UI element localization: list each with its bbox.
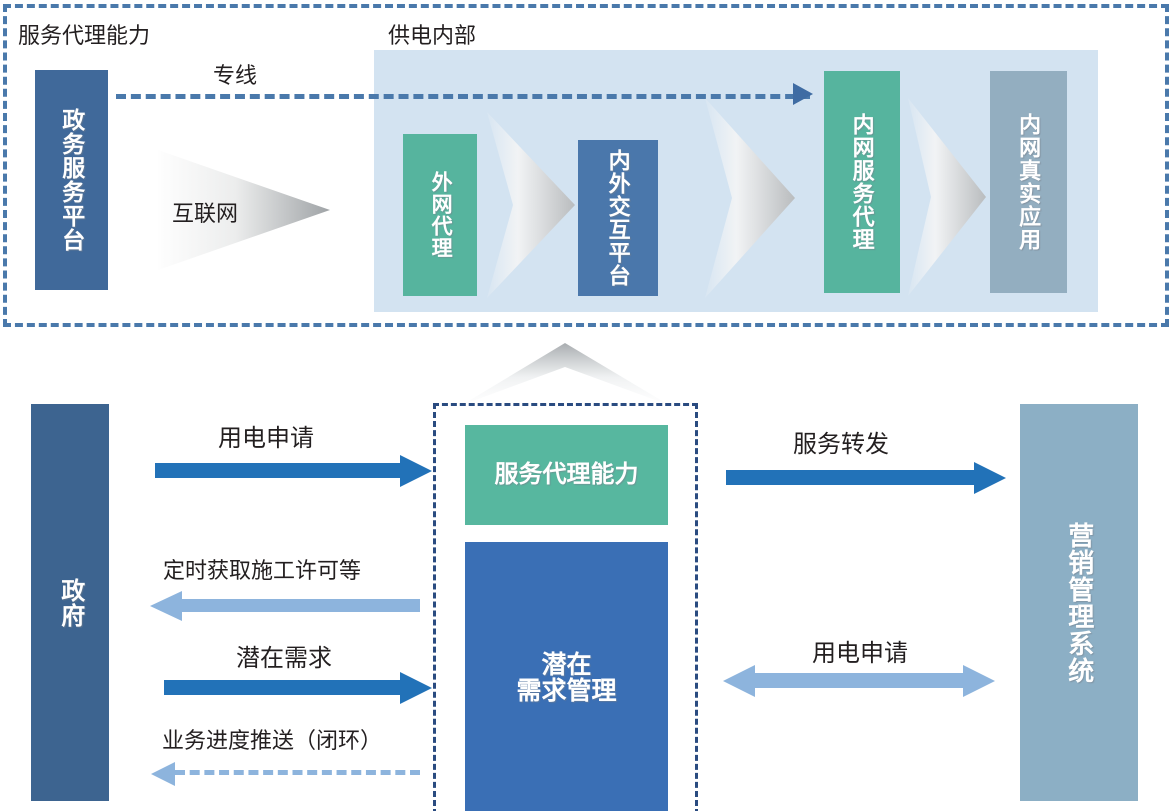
box-government-label: 政府 [57,578,82,628]
dedicated-line-arrowhead-icon [793,83,813,105]
chevron-arrow-icon-1 [487,112,575,298]
chevron-arrow-icon-3 [908,98,986,296]
flow-arrow-business-progress-head-icon [151,762,175,786]
flow-arrow-scheduled-permit-shaft [182,599,420,612]
flow-arrow-potential-demand-head-icon [400,672,432,704]
diagram-canvas: 服务代理能力 供电内部 政务服务平台 专线 互联网 外网代理 [0,0,1174,811]
box-marketing-management-system[interactable]: 营销管理系统 [1020,404,1138,801]
box-external-network-proxy[interactable]: 外网代理 [403,134,477,296]
flow-arrow-power-application-right-shaft [755,673,963,688]
label-internet: 互联网 [172,196,238,228]
box-internal-external-exchange-platform[interactable]: 内外交互平台 [578,140,658,296]
label-dedicated-line: 专线 [213,58,257,90]
box-internal-network-real-application[interactable]: 内网真实应用 [990,71,1067,293]
flow-label-power-application-right: 用电申请 [812,633,908,668]
flow-arrow-service-forward-head-icon [974,462,1006,494]
box-marketing-management-system-label: 营销管理系统 [1065,522,1093,684]
flow-arrow-service-forward-shaft [726,470,974,485]
flow-arrow-power-application-left-shaft [155,463,400,478]
box-service-agent-capability-label: 服务代理能力 [495,462,639,487]
flow-arrow-scheduled-permit-head-icon [150,591,182,621]
up-chevron-arrow-icon [462,343,669,405]
flow-label-service-forward: 服务转发 [793,424,889,459]
box-internal-network-real-application-label: 内网真实应用 [1017,113,1040,251]
flow-label-business-progress-push: 业务进度推送（闭环） [162,723,382,755]
flow-arrow-power-application-right-head-left-icon [723,665,755,697]
box-internal-network-service-proxy-label: 内网服务代理 [850,113,873,251]
caption-supply-internal: 供电内部 [388,18,476,50]
box-service-agent-capability[interactable]: 服务代理能力 [465,425,668,525]
box-internal-network-service-proxy[interactable]: 内网服务代理 [824,71,900,293]
box-external-network-proxy-label: 外网代理 [429,171,451,259]
caption-service-agent-capability: 服务代理能力 [18,18,150,50]
flow-arrow-potential-demand-shaft [164,680,400,695]
flow-arrow-business-progress-shaft [175,770,420,775]
flow-label-power-application-left: 用电申请 [218,418,314,453]
flow-arrow-power-application-left-head-icon [400,455,432,487]
box-government-service-platform[interactable]: 政务服务平台 [35,70,108,290]
box-government-service-platform-label: 政务服务平台 [59,108,83,252]
flow-arrow-power-application-right-head-right-icon [963,665,995,697]
chevron-arrow-icon-2 [705,98,795,298]
flow-label-scheduled-construction-permit: 定时获取施工许可等 [163,553,361,585]
flow-label-potential-demand: 潜在需求 [236,638,332,673]
box-potential-demand-management[interactable]: 潜在 需求管理 [465,542,668,811]
box-government[interactable]: 政府 [31,404,109,801]
box-internal-external-exchange-platform-label: 内外交互平台 [606,149,629,287]
box-potential-demand-management-label-line2: 需求管理 [516,678,616,705]
box-potential-demand-management-label-line1: 潜在 [516,652,616,679]
